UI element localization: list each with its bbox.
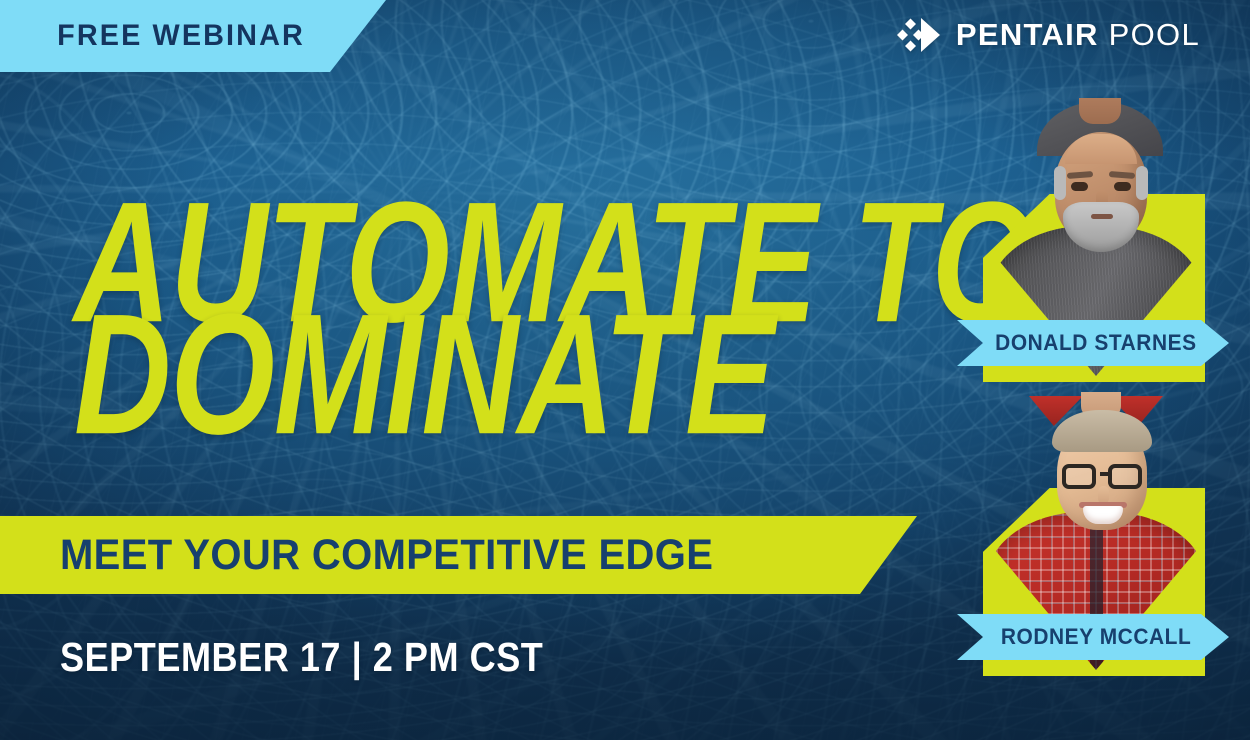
pool-word: POOL [1109,17,1200,52]
portrait-brow-left [1067,171,1093,179]
portrait-eye-right [1114,182,1131,191]
pentair-word: PENTAIR [956,17,1099,52]
webinar-promo-banner: FREE WEBINAR PENTAIR POOL AUTOMATE TO DO… [0,0,1250,740]
speaker-nameplate: RODNEY MCCALL [957,614,1229,660]
portrait-glasses-right-lens [1108,464,1142,489]
pentair-pool-wordmark: PENTAIR POOL [956,17,1200,53]
portrait-smile [1083,506,1123,524]
headline: AUTOMATE TO DOMINATE [74,186,1016,417]
speaker-name: RODNEY MCCALL [995,624,1191,650]
portrait-eye-left [1071,182,1088,191]
portrait-brow-right [1109,171,1135,179]
free-webinar-badge: FREE WEBINAR [0,0,386,72]
pentair-pool-logo: PENTAIR POOL [897,17,1200,53]
speaker-card-rodney-mccall: RODNEY MCCALL [975,392,1213,692]
portrait-hair-left [1054,166,1066,200]
portrait-glasses-left-lens [1062,464,1096,489]
portrait-glasses-bridge [1100,472,1110,476]
portrait-hair-right [1136,166,1148,200]
pentair-diamond-arrow-mark [897,17,941,53]
speaker-nameplate: DONALD STARNES [957,320,1229,366]
schedule-line: SEPTEMBER 17 | 2 PM CST [60,634,543,681]
portrait-head [1057,420,1147,530]
portrait-mouth [1091,214,1113,219]
headline-line-2: DOMINATE [74,298,1035,452]
portrait-neck [1079,98,1121,124]
subheadline-label: MEET YOUR COMPETITIVE EDGE [60,531,713,580]
subheadline-banner: MEET YOUR COMPETITIVE EDGE [0,516,917,594]
speaker-name: DONALD STARNES [989,330,1196,356]
free-webinar-label: FREE WEBINAR [57,19,305,53]
portrait-head [1055,132,1147,244]
speaker-card-donald-starnes: DONALD STARNES [975,98,1213,398]
